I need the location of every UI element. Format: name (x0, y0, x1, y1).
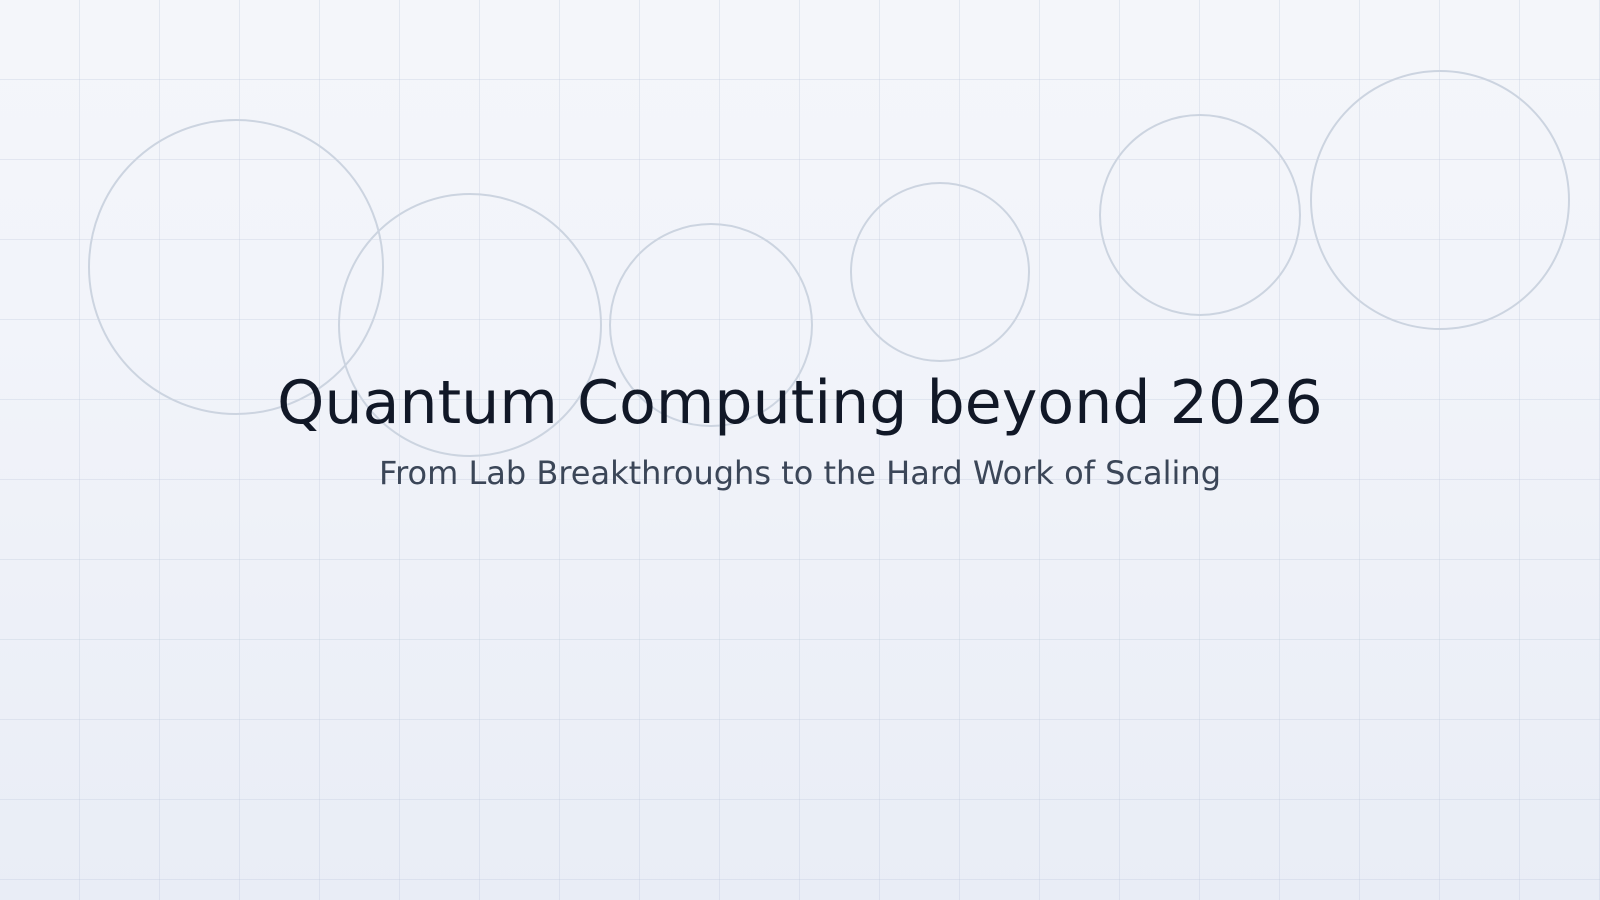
title-slide: Quantum Computing beyond 2026 From Lab B… (0, 0, 1600, 900)
slide-content: Quantum Computing beyond 2026 From Lab B… (0, 0, 1600, 900)
slide-title: Quantum Computing beyond 2026 (0, 370, 1600, 437)
slide-subtitle: From Lab Breakthroughs to the Hard Work … (0, 454, 1600, 492)
